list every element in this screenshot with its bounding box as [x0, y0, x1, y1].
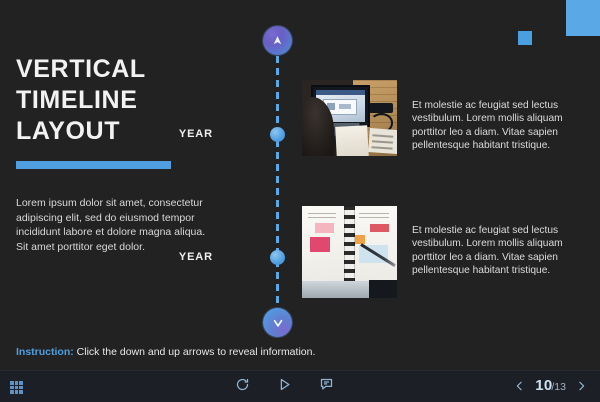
replay-button[interactable]: [233, 378, 251, 396]
chevron-down-icon: [271, 316, 285, 330]
entry-image-2: [302, 206, 397, 298]
title-accent-bar: [16, 161, 171, 169]
decorative-square-small: [518, 31, 532, 45]
timeline-up-arrow-button[interactable]: [263, 26, 292, 55]
page-navigation: 10 /13: [513, 377, 588, 394]
year-label-1: YEAR: [153, 128, 213, 140]
timeline-dot-2: [270, 250, 285, 265]
intro-paragraph: Lorem ipsum dolor sit amet, consectetur …: [16, 196, 216, 254]
decorative-square-large: [566, 0, 600, 36]
page-counter: 10 /13: [535, 377, 566, 394]
play-icon: [277, 377, 292, 397]
total-pages: /13: [551, 381, 566, 393]
prev-page-button[interactable]: [513, 378, 526, 394]
timeline-down-arrow-button[interactable]: [263, 308, 292, 337]
playback-controls: [233, 378, 335, 396]
page-title-line-1: VERTICAL: [16, 54, 246, 85]
instruction-text: Click the down and up arrows to reveal i…: [77, 346, 316, 358]
current-page: 10: [535, 377, 552, 394]
next-page-button[interactable]: [575, 378, 588, 394]
instruction-label: Instruction:: [16, 346, 74, 358]
play-button[interactable]: [275, 378, 293, 396]
arrow-up-icon: [271, 34, 284, 47]
page-title-line-2: TIMELINE: [16, 85, 246, 116]
comment-button[interactable]: [317, 378, 335, 396]
instruction-line: Instruction: Click the down and up arrow…: [16, 346, 315, 358]
year-label-2: YEAR: [153, 251, 213, 263]
timeline-dot-1: [270, 127, 285, 142]
replay-icon: [235, 377, 250, 397]
entry-text-1: Et molestie ac feugiat sed lectus vestib…: [412, 99, 587, 153]
entry-image-1: [302, 80, 397, 156]
grid-menu-icon[interactable]: [10, 381, 23, 394]
timeline-track: [276, 44, 279, 324]
comment-icon: [319, 377, 334, 397]
entry-text-2: Et molestie ac feugiat sed lectus vestib…: [412, 224, 587, 278]
slide-canvas: VERTICAL TIMELINE LAYOUT Lorem ipsum dol…: [0, 0, 600, 402]
player-toolbar: 10 /13: [0, 370, 600, 402]
